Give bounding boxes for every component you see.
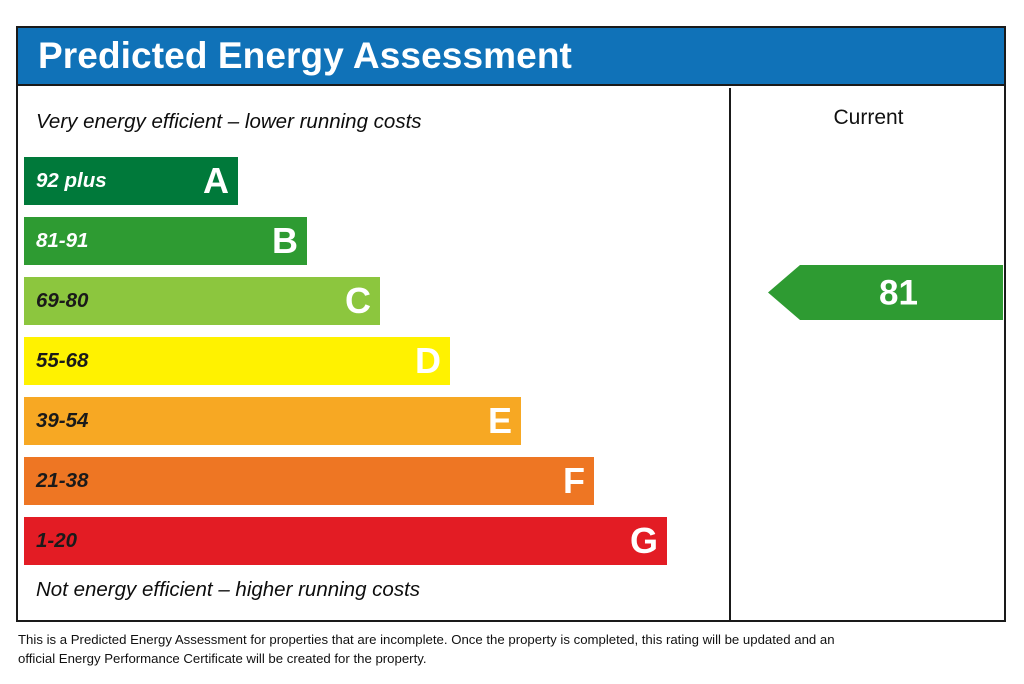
current-column-header: Current (733, 106, 1004, 130)
band-range-label: 39-54 (36, 409, 88, 433)
current-rating-column: Current 81 (733, 88, 1004, 620)
rating-band-a: 92 plusA (24, 157, 238, 205)
energy-rating-chart: Very energy efficient – lower running co… (18, 88, 731, 620)
band-range-label: 81-91 (36, 229, 88, 253)
caption-very-efficient: Very energy efficient – lower running co… (36, 110, 422, 134)
rating-band-b: 81-91B (24, 217, 307, 265)
title-bar: Predicted Energy Assessment (18, 28, 1004, 86)
band-letter-d: D (415, 343, 441, 379)
current-rating-value: 81 (768, 275, 1003, 310)
rating-band-c: 69-80C (24, 277, 380, 325)
rating-band-e: 39-54E (24, 397, 521, 445)
band-letter-c: C (345, 283, 371, 319)
rating-band-g: 1-20G (24, 517, 667, 565)
band-range-label: 69-80 (36, 289, 88, 313)
footer-note: This is a Predicted Energy Assessment fo… (18, 630, 848, 668)
band-range-label: 92 plus (36, 169, 107, 193)
rating-band-list: 92 plusA81-91B69-80C55-68D39-54E21-38F1-… (24, 157, 724, 565)
rating-band-d: 55-68D (24, 337, 450, 385)
caption-not-efficient: Not energy efficient – higher running co… (36, 578, 420, 602)
band-letter-g: G (630, 523, 658, 559)
page-title: Predicted Energy Assessment (38, 35, 572, 77)
band-letter-a: A (203, 163, 229, 199)
current-rating-arrow: 81 (768, 265, 1003, 320)
band-letter-b: B (272, 223, 298, 259)
band-range-label: 55-68 (36, 349, 88, 373)
band-letter-f: F (563, 463, 585, 499)
band-range-label: 1-20 (36, 529, 77, 553)
band-range-label: 21-38 (36, 469, 88, 493)
epc-certificate: Predicted Energy Assessment Very energy … (16, 26, 1006, 622)
rating-band-f: 21-38F (24, 457, 594, 505)
band-letter-e: E (488, 403, 512, 439)
